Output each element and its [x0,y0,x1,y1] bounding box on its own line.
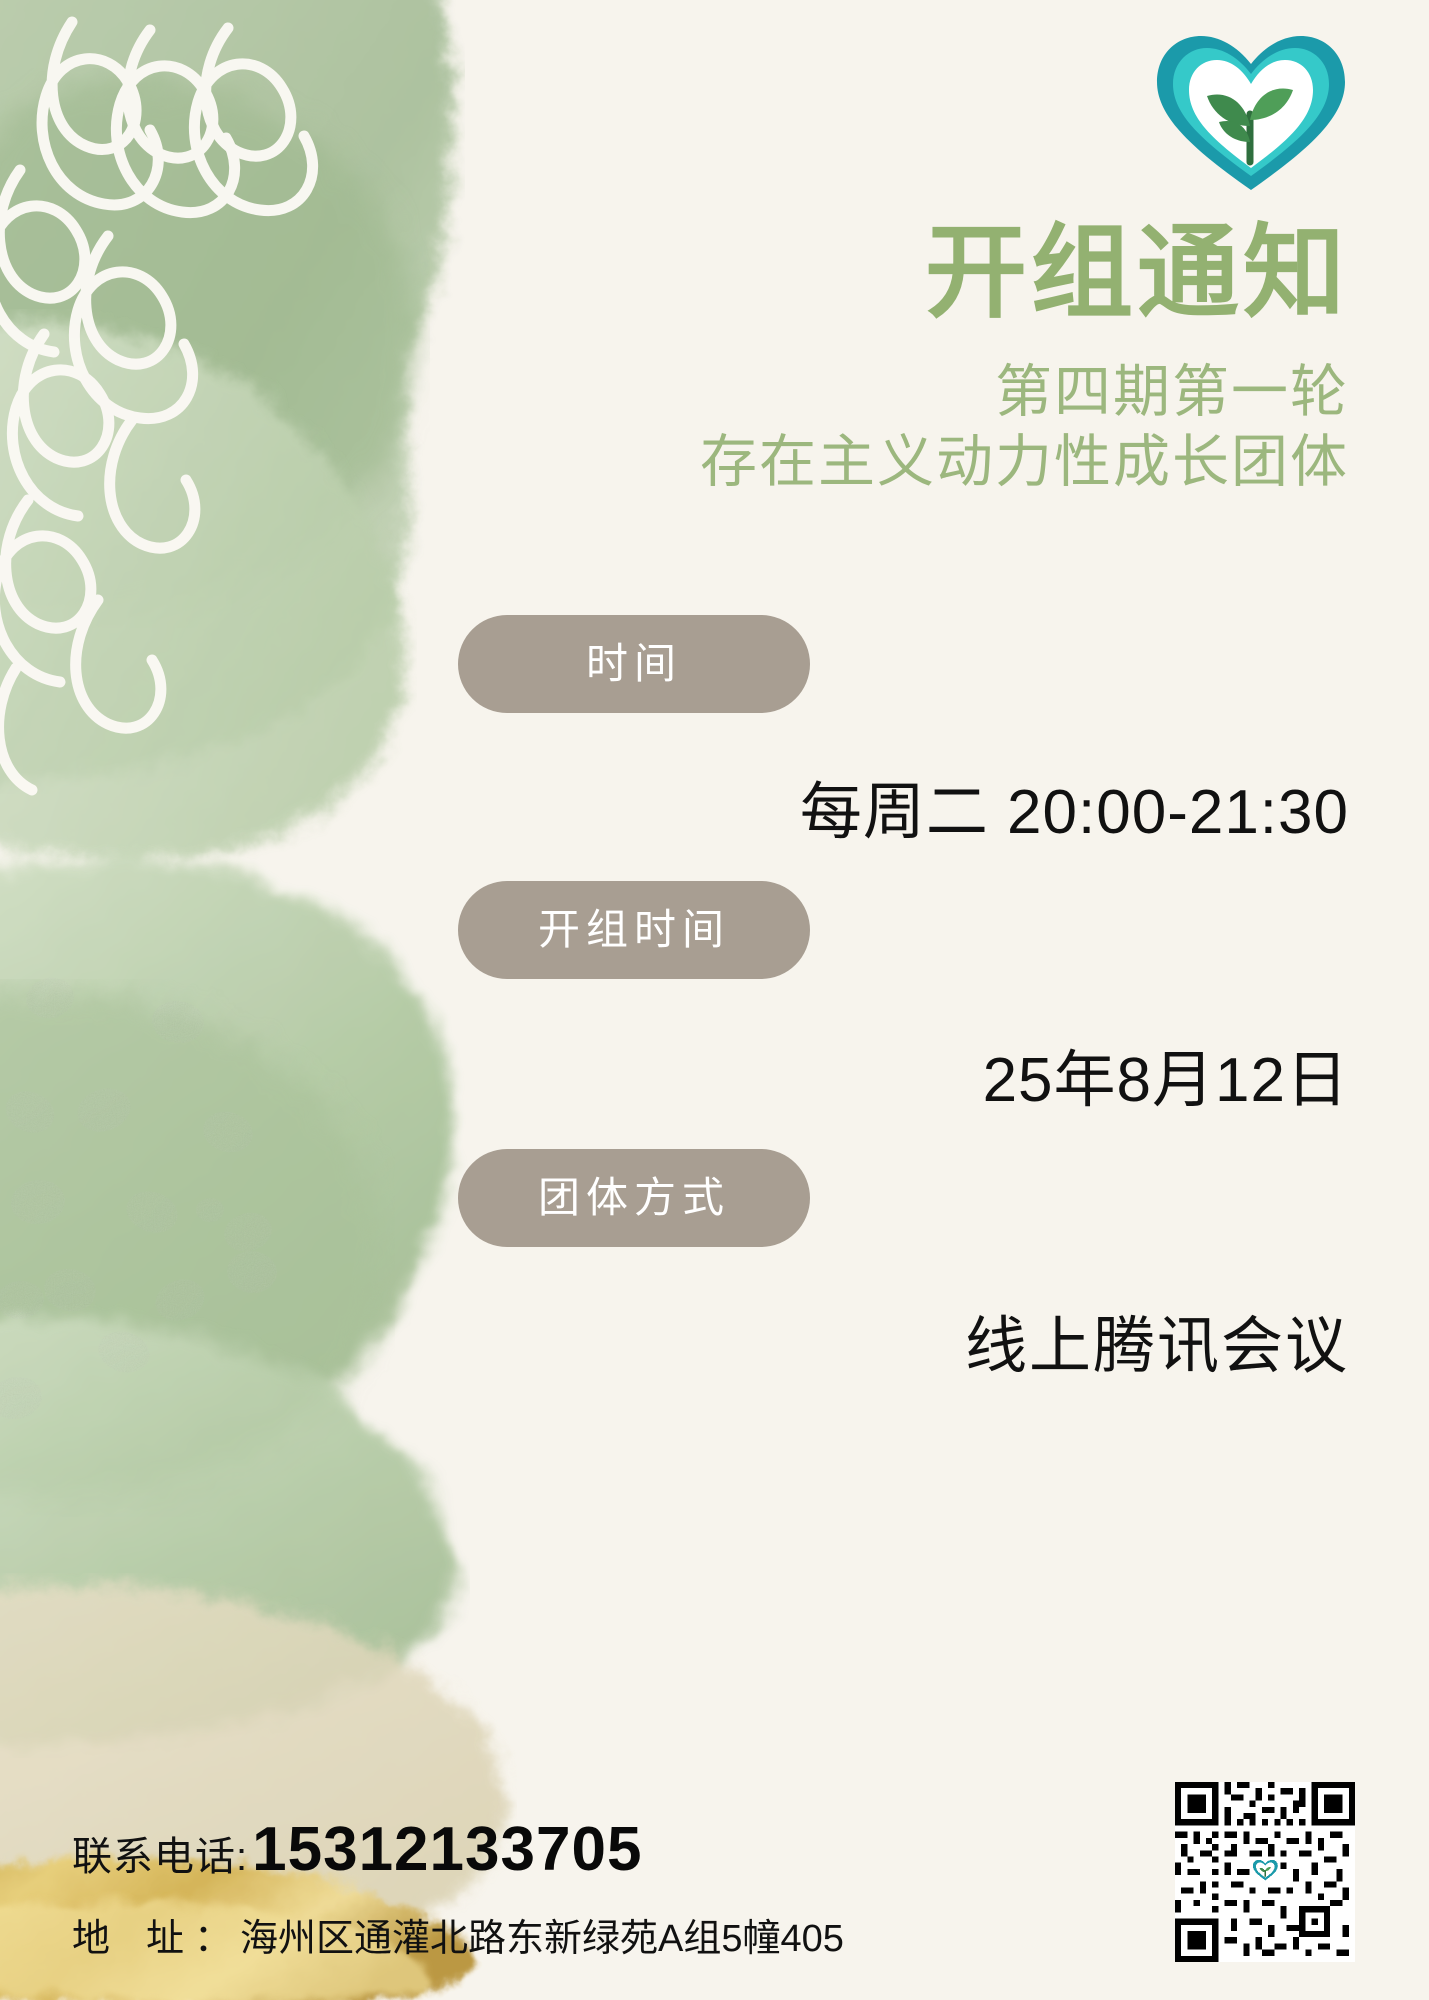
subtitle-line-2: 存在主义动力性成长团体 [400,428,1349,498]
page-subtitle: 第四期第一轮 存在主义动力性成长团体 [400,358,1349,497]
address-colon: ： [194,1907,232,1962]
detail-row-start-date: 开组时间 25年8月12日 [380,881,1349,1119]
heart-leaf-logo [1151,30,1351,200]
value-format: 线上腾讯会议 [380,1295,1349,1385]
address-line: 地址 ： 海州区通灌北路东新绿苑A组5幢405 [72,1907,844,1962]
details-section: 时间 每周二 20:00-21:30 开组时间 25年8月12日 团体方式 线上… [380,615,1349,1393]
subtitle-line-1: 第四期第一轮 [400,358,1349,428]
value-time: 每周二 20:00-21:30 [380,761,1349,851]
footer-contact: 联系电话: 15312133705 地址 ： 海州区通灌北路东新绿苑A组5幢40… [72,1814,844,1962]
detail-row-time: 时间 每周二 20:00-21:30 [380,615,1349,851]
wechat-qr-code[interactable] [1175,1782,1355,1962]
badge-time-label: 时间 [458,615,810,713]
page-title: 开组通知 [400,218,1349,328]
address-value: 海州区通灌北路东新绿苑A组5幢405 [240,1907,844,1962]
phone-label: 联系电话: [72,1824,248,1882]
phone-number: 15312133705 [252,1814,642,1885]
value-start-date: 25年8月12日 [380,1029,1349,1119]
header-block: 开组通知 第四期第一轮 存在主义动力性成长团体 [400,218,1349,497]
detail-row-format: 团体方式 线上腾讯会议 [380,1149,1349,1385]
badge-start-date-label: 开组时间 [458,881,810,979]
phone-line: 联系电话: 15312133705 [72,1814,844,1885]
badge-format-label: 团体方式 [458,1149,810,1247]
